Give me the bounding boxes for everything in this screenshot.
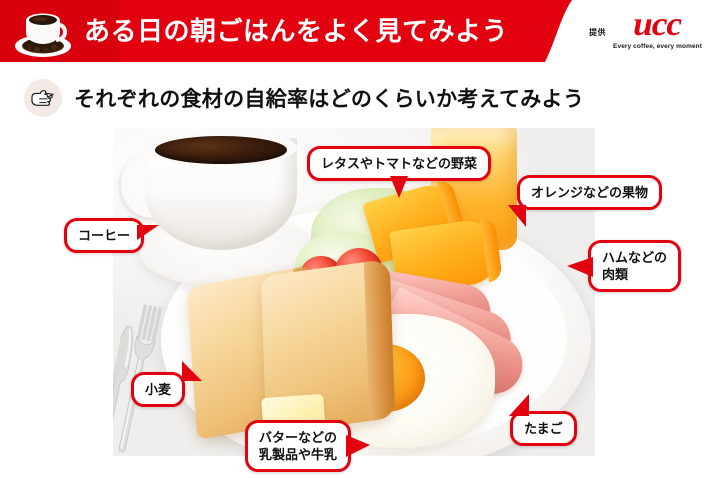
callout-dairy[interactable]: バターなどの 乳製品や牛乳 [245, 420, 351, 472]
callout-wheat[interactable]: 小麦 [131, 372, 185, 407]
callout-tail-icon [390, 176, 408, 198]
callout-meat[interactable]: ハムなどの 肉類 [588, 240, 681, 292]
callout-tail-icon [182, 361, 202, 381]
callout-tail-icon [509, 394, 529, 416]
callout-fruit[interactable]: オレンジなどの果物 [517, 175, 662, 210]
header-banner: ある日の朝ごはんをよく見てみよう [0, 0, 572, 62]
coffee-cup-icon [12, 4, 74, 60]
callout-tail-icon [508, 205, 526, 227]
callout-tail-icon [567, 257, 593, 277]
page-title: ある日の朝ごはんをよく見てみよう [84, 12, 514, 52]
callout-vegetables[interactable]: レタスやトマトなどの野菜 [307, 146, 491, 181]
ucc-tagline: Every coffee, every moment [613, 44, 702, 51]
sponsor-block: 提供 ucc Every coffee, every moment [562, 4, 702, 56]
callout-egg[interactable]: たまご [510, 411, 577, 446]
callout-coffee[interactable]: コーヒー [64, 218, 144, 253]
pointing-hand-icon [24, 79, 62, 117]
subtitle-row: それぞれの食材の自給率はどのくらいか考えてみよう [24, 78, 584, 118]
sponsor-label: 提供 [589, 27, 606, 38]
callout-tail-icon [346, 435, 370, 457]
ucc-wordmark: ucc [634, 9, 682, 42]
ucc-logo: ucc Every coffee, every moment [613, 9, 702, 50]
subtitle-text: それぞれの食材の自給率はどのくらいか考えてみよう [74, 83, 584, 113]
coffee-liquid [155, 136, 287, 164]
slide-root: ある日の朝ごはんをよく見てみよう 提供 ucc Every coffee, ev… [0, 0, 710, 478]
callout-tail-icon [137, 225, 159, 240]
